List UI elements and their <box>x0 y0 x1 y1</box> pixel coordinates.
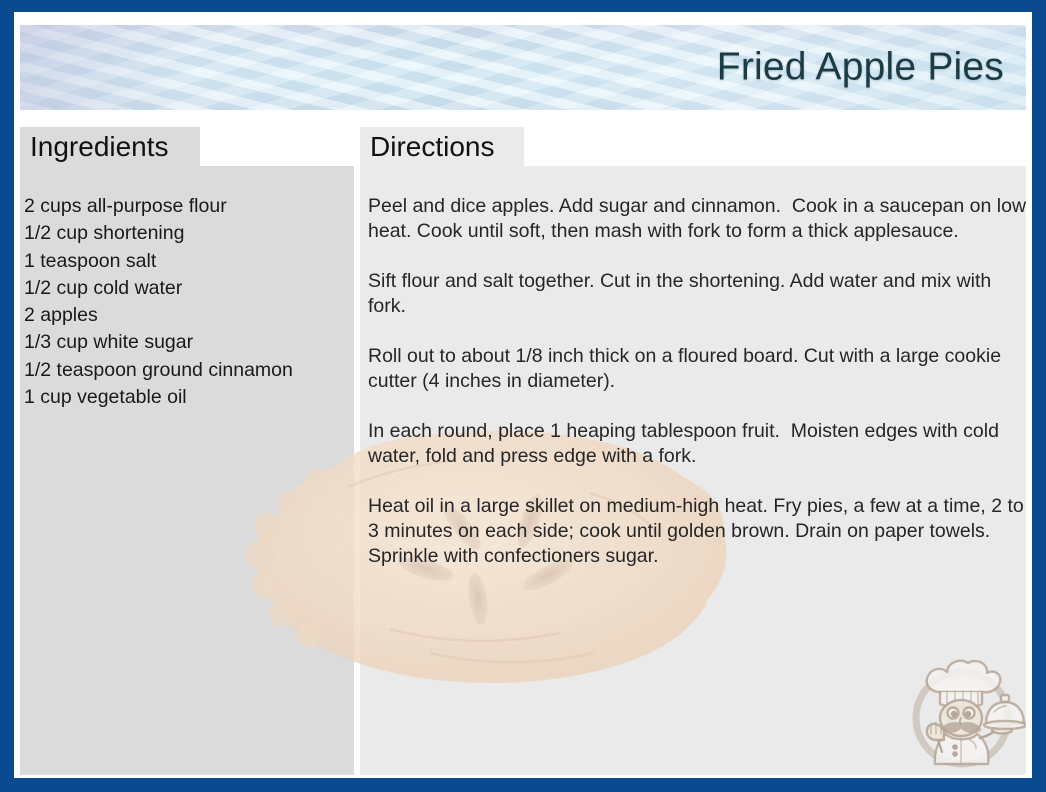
header-banner: Fried Apple Pies <box>20 25 1026 110</box>
directions-heading: Directions <box>360 133 494 161</box>
list-item: 1/2 cup shortening <box>24 220 349 247</box>
direction-step: Heat oil in a large skillet on medium-hi… <box>368 494 1030 569</box>
ingredients-heading-tab: Ingredients <box>20 127 200 167</box>
ingredients-heading: Ingredients <box>20 133 169 161</box>
direction-step: Roll out to about 1/8 inch thick on a fl… <box>368 344 1030 394</box>
list-item: 1 teaspoon salt <box>24 248 349 275</box>
directions-text: Peel and dice apples. Add sugar and cinn… <box>368 194 1030 569</box>
list-item: 1 cup vegetable oil <box>24 384 349 411</box>
slide-card: Fried Apple Pies Ingredients Directions <box>14 12 1032 778</box>
direction-step: Peel and dice apples. Add sugar and cinn… <box>368 194 1030 244</box>
list-item: 2 apples <box>24 302 349 329</box>
direction-step: In each round, place 1 heaping tablespoo… <box>368 419 1030 469</box>
direction-step: Sift flour and salt together. Cut in the… <box>368 269 1030 319</box>
list-item: 1/2 cup cold water <box>24 275 349 302</box>
directions-heading-tab: Directions <box>360 127 524 167</box>
list-item: 1/2 teaspoon ground cinnamon <box>24 357 349 384</box>
list-item: 2 cups all-purpose flour <box>24 193 349 220</box>
ingredients-list: 2 cups all-purpose flour 1/2 cup shorten… <box>24 193 349 411</box>
list-item: 1/3 cup white sugar <box>24 329 349 356</box>
page-title: Fried Apple Pies <box>717 47 1004 86</box>
recipe-slide: Fried Apple Pies Ingredients Directions <box>0 0 1046 792</box>
